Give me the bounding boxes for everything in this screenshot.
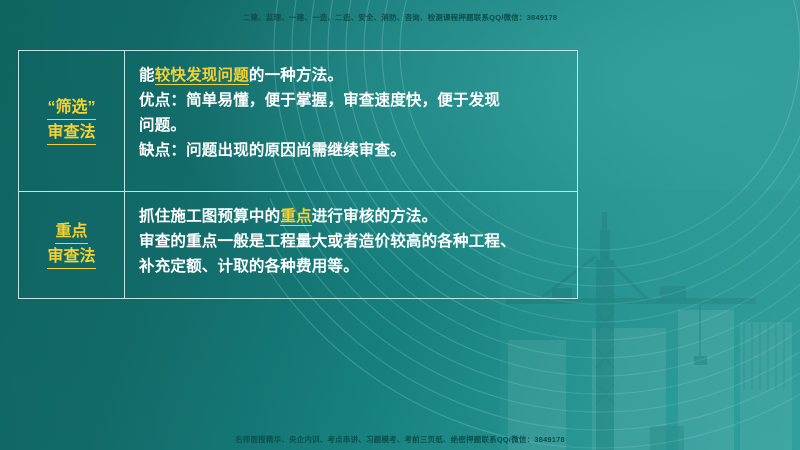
row-label-cell-shaixuan: “筛选” 审查法: [19, 51, 125, 191]
comparison-table: “筛选” 审查法 能较快发现问题的一种方法。 优点：简单易懂，便于掌握，审查速度…: [18, 50, 578, 299]
body-line: 优点：简单易懂，便于掌握，审查速度快，便于发现: [139, 88, 567, 113]
body-text: 问题。: [139, 117, 186, 134]
body-text: 能: [139, 67, 155, 84]
body-line: 缺点：问题出现的原因尚需继续审查。: [139, 138, 567, 163]
body-text: 缺点：问题出现的原因尚需继续审查。: [139, 142, 406, 159]
body-text: 抓住施工图预算中的: [139, 208, 280, 225]
highlighted-text: 重点: [280, 208, 311, 226]
body-line: 能较快发现问题的一种方法。: [139, 63, 567, 88]
slide-canvas: 二建、监理、一建、一造、二造、安全、消防、咨询、检测课程押题联系QQ/微信：38…: [0, 0, 800, 450]
row-label-line: 重点: [55, 222, 87, 244]
top-ticker-text: 二建、监理、一建、一造、二造、安全、消防、咨询、检测课程押题联系QQ/微信：38…: [0, 12, 800, 23]
row-body-cell-shaixuan: 能较快发现问题的一种方法。 优点：简单易懂，便于掌握，审查速度快，便于发现 问题…: [125, 51, 577, 191]
row-label-cell-zhongdian: 重点 审查法: [19, 192, 125, 298]
row-label-line: “筛选”: [47, 98, 95, 120]
body-text: 补充定额、计取的各种费用等。: [139, 258, 359, 275]
body-text: 进行审核的方法。: [312, 208, 438, 225]
body-line: 问题。: [139, 113, 567, 138]
body-line: 审查的重点一般是工程量大或者造价较高的各种工程、: [139, 229, 567, 254]
body-line: 补充定额、计取的各种费用等。: [139, 254, 567, 279]
body-text: 优点：简单易懂，便于掌握，审查速度快，便于发现: [139, 92, 500, 109]
table-row: 重点 审查法 抓住施工图预算中的重点进行审核的方法。 审查的重点一般是工程量大或…: [19, 191, 577, 298]
row-label-line: 审查法: [47, 123, 95, 145]
body-text: 审查的重点一般是工程量大或者造价较高的各种工程、: [139, 233, 516, 250]
table-row: “筛选” 审查法 能较快发现问题的一种方法。 优点：简单易懂，便于掌握，审查速度…: [19, 51, 577, 191]
bottom-ticker-text: 名师面授精华、央企内训、考点串讲、习题模考、考前三页纸、绝密押题联系QQ/微信：…: [0, 434, 800, 445]
row-label-line: 审查法: [47, 247, 95, 269]
body-text: 的一种方法。: [249, 67, 343, 84]
row-body-cell-zhongdian: 抓住施工图预算中的重点进行审核的方法。 审查的重点一般是工程量大或者造价较高的各…: [125, 192, 577, 298]
body-line: 抓住施工图预算中的重点进行审核的方法。: [139, 204, 567, 229]
highlighted-text: 较快发现问题: [155, 67, 249, 85]
